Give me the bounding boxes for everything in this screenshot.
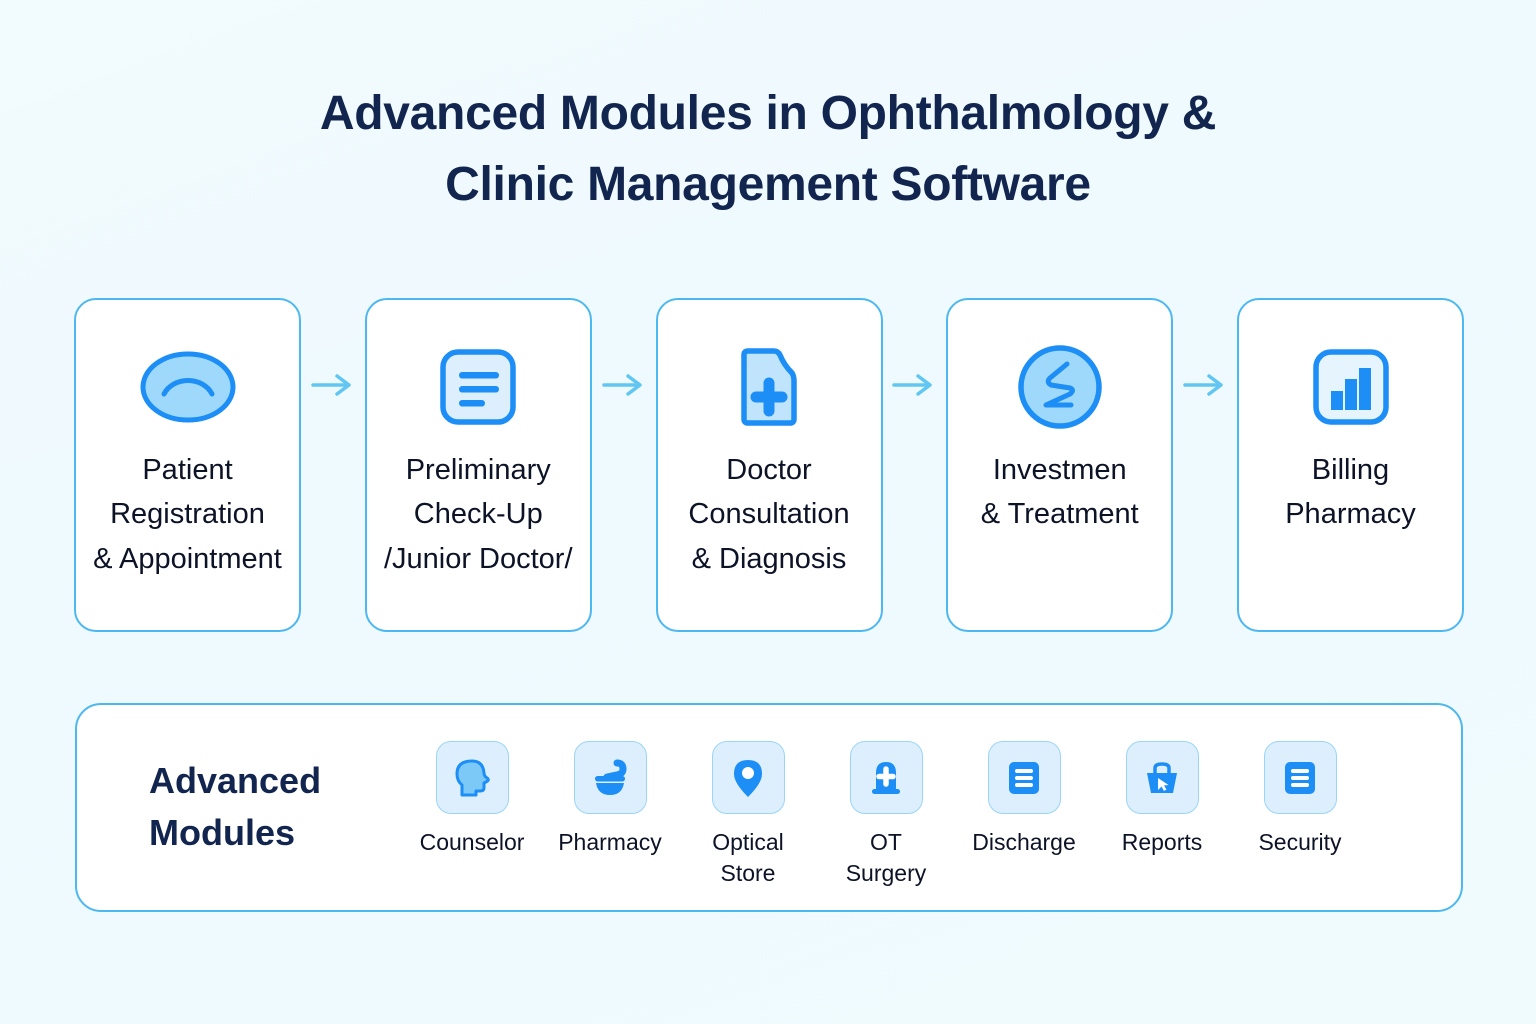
document-filled-icon — [988, 741, 1061, 814]
flow-card-label: Doctor Consultation & Diagnosis — [682, 448, 855, 581]
flow-card-label: Preliminary Check-Up /Junior Doctor/ — [378, 448, 579, 581]
flow-label-line: /Junior Doctor/ — [384, 537, 573, 581]
page-title-line-2: Clinic Management Software — [0, 149, 1536, 220]
page-title: Advanced Modules in Ophthalmology & Clin… — [0, 78, 1536, 220]
flow-label-line: & Appointment — [93, 537, 282, 581]
module-item-optical-store[interactable]: Optical Store — [693, 741, 803, 890]
flow-label-line: Check-Up — [384, 492, 573, 536]
eye-lens-icon — [136, 344, 240, 430]
head-profile-icon — [436, 741, 509, 814]
flow-arrow-2 — [598, 298, 650, 632]
flow-card-label: Patient Registration & Appointment — [87, 448, 288, 581]
module-label: Pharmacy — [558, 827, 662, 858]
module-label: Optical Store — [693, 827, 803, 890]
circular-path-badge-icon — [1008, 344, 1112, 430]
flow-label-line: Doctor — [688, 448, 849, 492]
module-item-pharmacy[interactable]: Pharmacy — [555, 741, 665, 858]
module-item-ot-surgery[interactable]: OT Surgery — [831, 741, 941, 890]
flow-label-line: Patient — [93, 448, 282, 492]
medical-file-plus-icon — [717, 344, 821, 430]
document-lines-icon — [426, 344, 530, 430]
flow-label-line: Consultation — [688, 492, 849, 536]
flow-card-billing-pharmacy[interactable]: Billing Pharmacy — [1237, 298, 1464, 632]
flow-label-line: Billing — [1285, 448, 1416, 492]
bar-chart-icon — [1299, 344, 1403, 430]
flow-label-line: & Diagnosis — [688, 537, 849, 581]
hospital-door-cross-icon — [850, 741, 923, 814]
map-pin-icon — [712, 741, 785, 814]
module-item-discharge[interactable]: Discharge — [969, 741, 1079, 858]
flow-label-line: Investmen — [981, 448, 1139, 492]
flow-arrow-4 — [1179, 298, 1231, 632]
module-item-counselor[interactable]: Counselor — [417, 741, 527, 858]
flow-card-investment-treatment[interactable]: Investmen & Treatment — [946, 298, 1173, 632]
flow-arrow-3 — [888, 298, 940, 632]
flow-card-label: Investmen & Treatment — [975, 448, 1145, 537]
document-filled-icon — [1264, 741, 1337, 814]
mortar-pestle-icon — [574, 741, 647, 814]
flow-label-line: Registration — [93, 492, 282, 536]
flow-card-patient-registration[interactable]: Patient Registration & Appointment — [74, 298, 301, 632]
module-label: Security — [1258, 827, 1341, 858]
flow-label-line: & Treatment — [981, 492, 1139, 536]
heading-line: Modules — [149, 807, 417, 859]
flow-label-line: Preliminary — [384, 448, 573, 492]
advanced-modules-panel: Advanced Modules Counselor Pharmacy — [75, 703, 1463, 912]
advanced-modules-heading: Advanced Modules — [77, 705, 417, 859]
module-label: Reports — [1122, 827, 1203, 858]
module-label: OT Surgery — [831, 827, 941, 890]
modules-strip: Counselor Pharmacy Optical Store — [417, 705, 1461, 890]
module-label: Counselor — [420, 827, 525, 858]
module-item-security[interactable]: Security — [1245, 741, 1355, 858]
workflow-steps-row: Patient Registration & Appointment Preli… — [74, 298, 1464, 632]
page-title-line-1: Advanced Modules in Ophthalmology & — [0, 78, 1536, 149]
module-item-reports[interactable]: Reports — [1107, 741, 1217, 858]
module-label: Discharge — [972, 827, 1076, 858]
flow-arrow-1 — [307, 298, 359, 632]
flow-card-doctor-consultation[interactable]: Doctor Consultation & Diagnosis — [656, 298, 883, 632]
heading-line: Advanced — [149, 755, 417, 807]
flow-card-preliminary-checkup[interactable]: Preliminary Check-Up /Junior Doctor/ — [365, 298, 592, 632]
flow-label-line: Pharmacy — [1285, 492, 1416, 536]
basket-cursor-icon — [1126, 741, 1199, 814]
flow-card-label: Billing Pharmacy — [1279, 448, 1422, 537]
